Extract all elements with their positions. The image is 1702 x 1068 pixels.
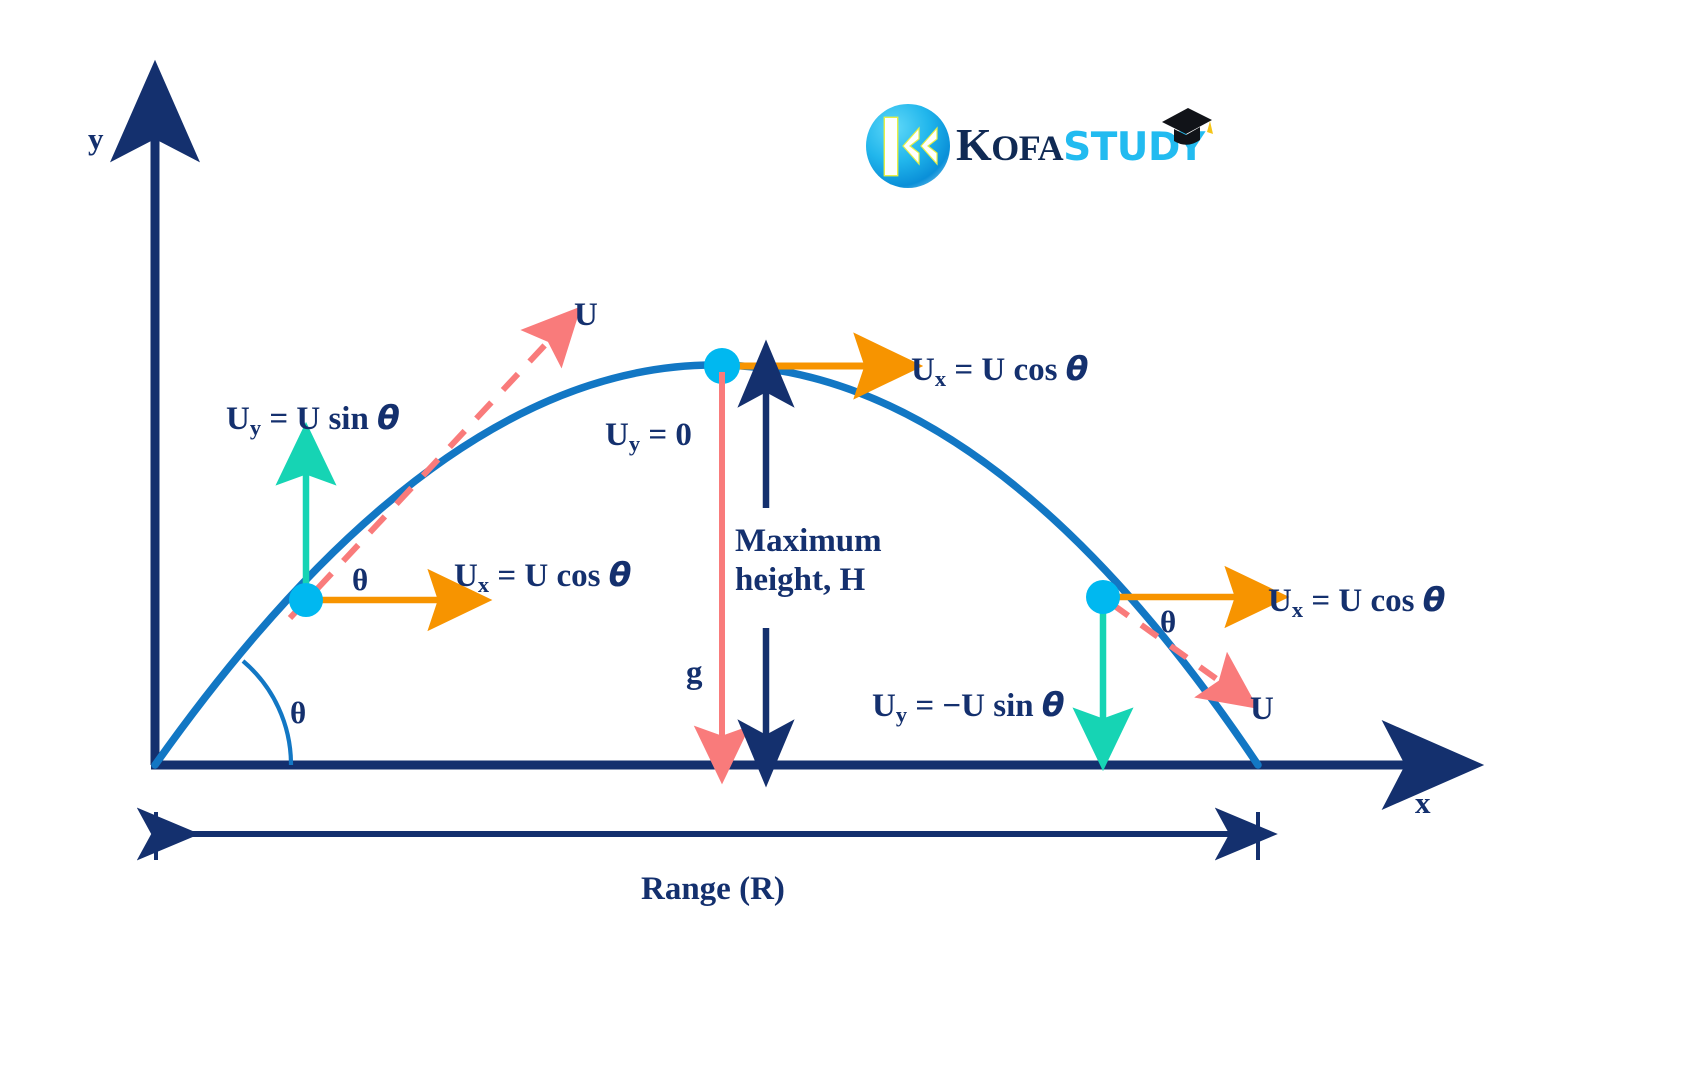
uy-apex-expression: = 0 (640, 417, 692, 453)
max-height-line-1: Maximum (735, 522, 882, 561)
range-label: Range (R) (641, 870, 785, 909)
y-axis-label: y (88, 121, 104, 158)
ux-launch-symbol: U (454, 558, 478, 594)
ux-apex-label: Ux = U cos θ (911, 350, 1088, 390)
kofastudy-logo: KOFASTUDY (866, 98, 1216, 194)
diagram-canvas: KOFASTUDY y x U U Uy = U sin θ Ux = U co… (0, 0, 1702, 1068)
ux-land-subscript: x (1292, 597, 1303, 622)
ux-apex-expression: = U cos (946, 352, 1066, 388)
ux-land-theta: θ (1423, 580, 1446, 619)
ux-launch-expression: = U cos (489, 558, 609, 594)
u-landing-label: U (1250, 690, 1274, 729)
logo-k-bar (885, 118, 897, 175)
gravity-label: g (686, 654, 703, 693)
u-launch-label: U (574, 296, 598, 335)
uy-apex-subscript: y (629, 431, 640, 456)
graduation-cap-icon (1158, 102, 1216, 148)
max-height-label: Maximum height, H (735, 522, 882, 600)
uy-land-label: Uy = −U sin θ (872, 686, 1065, 726)
x-axis-label: x (1415, 785, 1431, 822)
logo-circle-mark (866, 104, 950, 188)
logo-text-ofa: OFA (991, 128, 1063, 168)
ux-apex-theta: θ (1066, 349, 1089, 388)
ux-apex-symbol: U (911, 352, 935, 388)
uy-land-subscript: y (896, 702, 907, 727)
uy-launch-label: Uy = U sin θ (226, 399, 400, 439)
uy-land-expression: = −U sin (907, 688, 1042, 724)
uy-launch-expression: = U sin (261, 401, 377, 437)
uy-apex-symbol: U (605, 417, 629, 453)
ux-launch-subscript: x (478, 572, 489, 597)
apex-vectors (704, 348, 884, 384)
uy-land-symbol: U (872, 688, 896, 724)
ux-apex-subscript: x (935, 366, 946, 391)
theta-launch-angle-label: θ (290, 695, 306, 732)
uy-launch-theta: θ (377, 398, 400, 437)
theta-launch-vector-label: θ (352, 562, 368, 599)
uy-launch-subscript: y (250, 415, 261, 440)
ux-land-symbol: U (1268, 583, 1292, 619)
ux-launch-label: Ux = U cos θ (454, 556, 631, 596)
ascending-point-dot (289, 583, 323, 617)
descending-point-dot (1086, 580, 1120, 614)
theta-landing-label: θ (1160, 604, 1176, 641)
uy-launch-symbol: U (226, 401, 250, 437)
ux-land-expression: = U cos (1303, 583, 1423, 619)
double-chevron-left-icon (899, 126, 941, 166)
ux-land-label: Ux = U cos θ (1268, 581, 1445, 621)
launch-angle-arc (243, 661, 291, 765)
uy-apex-label: Uy = 0 (605, 416, 692, 455)
logo-text-k: K (956, 119, 991, 170)
uy-land-theta: θ (1042, 685, 1065, 724)
max-height-line-2: height, H (735, 561, 882, 600)
range-measure (156, 812, 1258, 860)
ux-launch-theta: θ (609, 555, 632, 594)
